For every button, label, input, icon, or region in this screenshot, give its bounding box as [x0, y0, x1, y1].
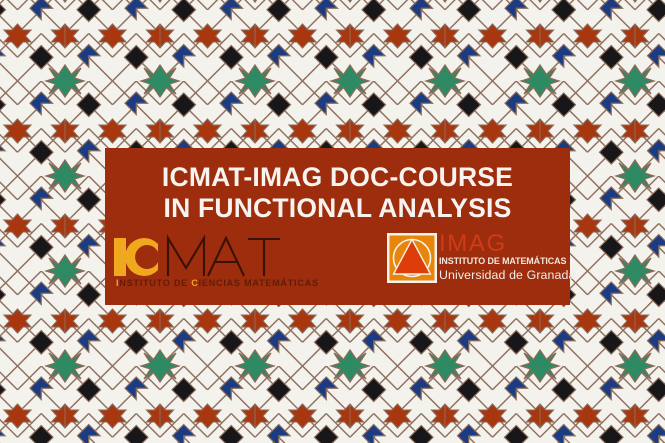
imag-circle-triangle-mark [387, 233, 437, 283]
page-title: ICMAT-IMAG DOC-COURSE IN FUNCTIONAL ANAL… [105, 162, 570, 224]
icmat-wordmark [110, 234, 282, 280]
icmat-subtitle: INSTITUTO DE CIENCIAS MATEMÁTICAS [116, 278, 319, 288]
icmat-wordmark-svg [110, 234, 282, 282]
imag-name: IMAG [439, 231, 571, 256]
imag-mark-svg [387, 233, 437, 283]
imag-text-block: IMAG INSTITUTO DE MATEMÁTICAS Universida… [439, 231, 571, 282]
imag-line-2: Universidad de Granada [439, 268, 571, 282]
title-line-2: IN FUNCTIONAL ANALYSIS [105, 193, 570, 224]
logo-row: INSTITUTO DE CIENCIAS MATEMÁTICAS IMAG I… [105, 234, 570, 302]
title-line-1: ICMAT-IMAG DOC-COURSE [105, 162, 570, 193]
icmat-logo: INSTITUTO DE CIENCIAS MATEMÁTICAS [110, 234, 290, 298]
imag-logo: IMAG INSTITUTO DE MATEMÁTICAS Universida… [387, 233, 572, 299]
title-banner: ICMAT-IMAG DOC-COURSE IN FUNCTIONAL ANAL… [105, 148, 570, 305]
poster-image: ICMAT-IMAG DOC-COURSE IN FUNCTIONAL ANAL… [0, 0, 665, 443]
icmat-subtitle-hl-c: C [191, 278, 198, 288]
imag-line-1: INSTITUTO DE MATEMÁTICAS [439, 256, 562, 268]
icmat-subtitle-hl-i: I [116, 278, 119, 288]
